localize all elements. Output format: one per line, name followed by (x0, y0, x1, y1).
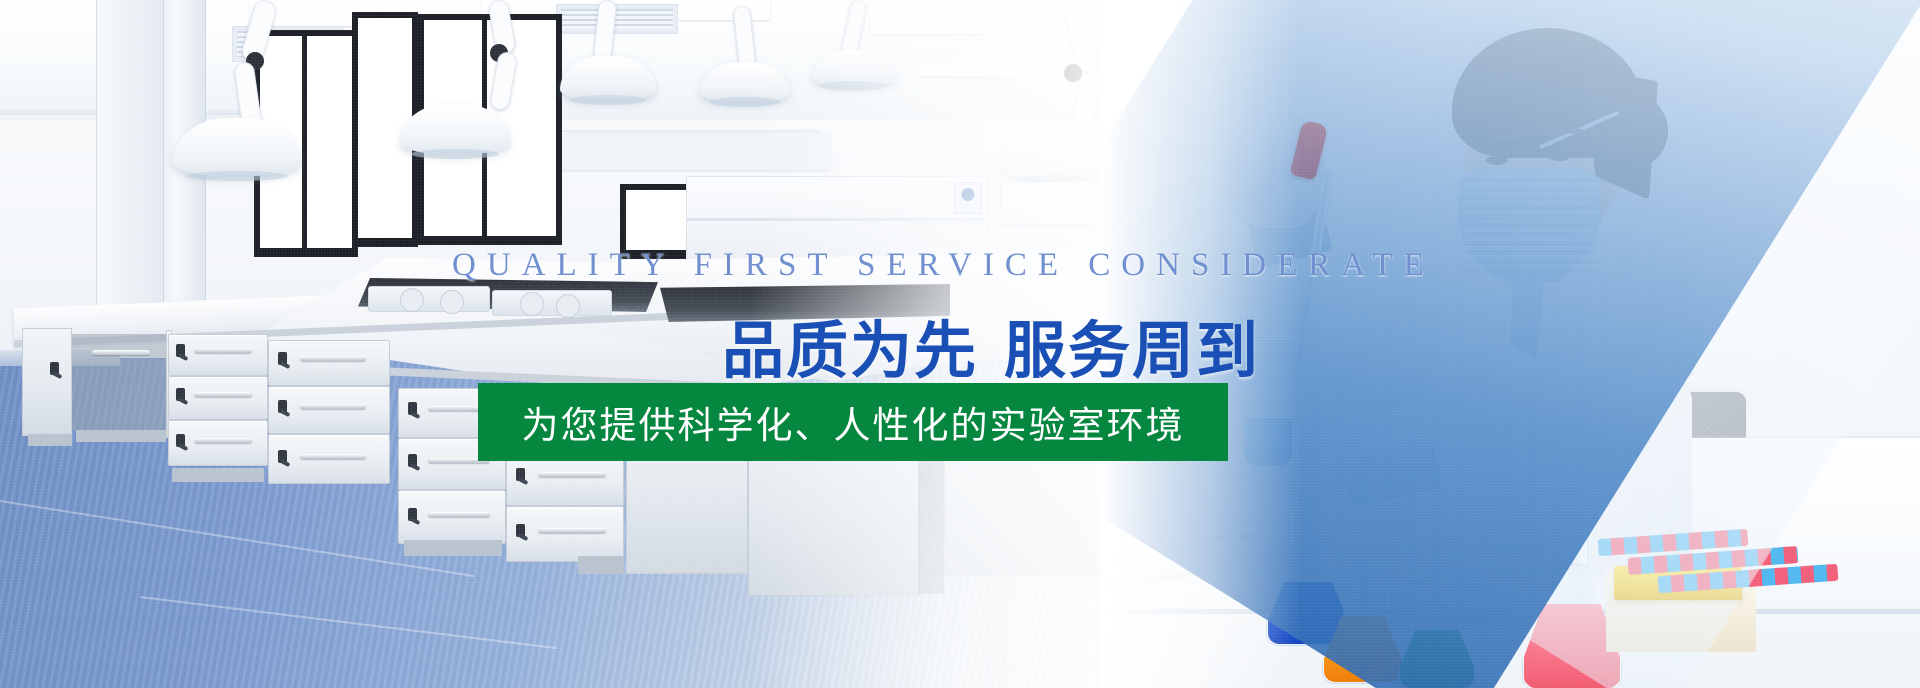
lab-hero-banner: QUALITY FIRST SERVICE CONSIDERATE 品质为先服务… (0, 0, 1920, 688)
subtitle-text: 为您提供科学化、人性化的实验室环境 (478, 395, 1228, 449)
headline-part-1: 品质为先 (722, 314, 978, 387)
english-tagline: QUALITY FIRST SERVICE CONSIDERATE (452, 247, 1435, 284)
headline: 品质为先服务周到 (722, 300, 1260, 390)
banner-text-overlay: QUALITY FIRST SERVICE CONSIDERATE 品质为先服务… (0, 0, 1920, 688)
headline-part-2: 服务周到 (1004, 314, 1260, 387)
subtitle-green-bar: 为您提供科学化、人性化的实验室环境 (478, 383, 1228, 461)
